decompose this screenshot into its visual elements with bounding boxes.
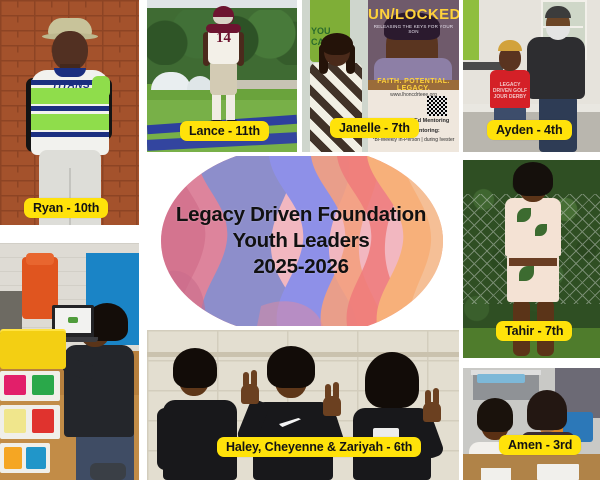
- finger: [325, 384, 331, 400]
- lego-pile: [4, 447, 22, 469]
- worksheet: [481, 468, 511, 480]
- right-leg: [226, 92, 235, 122]
- name-badge-janelle: Janelle - 7th: [330, 118, 419, 138]
- lego-pile: [26, 447, 46, 469]
- photo-scene-trio: [147, 330, 459, 480]
- yellow-lego-bin: [0, 331, 66, 369]
- poster-subtitle: RELEASING THE KEYS FOR YOUR SON: [368, 24, 459, 34]
- left-leg: [212, 92, 221, 122]
- title-line-3: 2025-2026: [253, 254, 348, 280]
- name-badge-ryan: Ryan - 10th: [24, 198, 108, 218]
- lego-pile: [4, 409, 26, 433]
- photo-tile-madison[interactable]: Madison - 5th: [0, 243, 139, 480]
- hair: [545, 6, 571, 18]
- name-badge-trio: Haley, Cheyenne & Zariyah - 6th: [217, 437, 421, 457]
- hair: [321, 33, 353, 55]
- shoe: [90, 463, 126, 480]
- blonde-hair: [498, 40, 522, 51]
- title-line-1: Legacy Driven Foundation: [176, 202, 426, 228]
- jersey-number: 14: [208, 30, 239, 47]
- girl-figure-right: [343, 352, 455, 480]
- hair: [513, 162, 553, 196]
- finger: [333, 382, 339, 400]
- lego-pile: [32, 409, 54, 433]
- photo-scene-madison: [0, 243, 139, 480]
- lego-sorting-tray: [0, 371, 60, 401]
- argyle-sweater: [310, 63, 362, 152]
- braided-hair: [267, 346, 315, 388]
- long-braided-hair: [365, 352, 419, 408]
- jersey-logo-text: TITANS: [45, 80, 97, 91]
- photo-tile-janelle[interactable]: YOU CAN UN/LOCKED RELEASING THE KEYS FOR…: [302, 0, 459, 152]
- top: [505, 198, 561, 256]
- finger: [433, 388, 439, 406]
- waist-band: [509, 258, 557, 266]
- name-badge-tahir: Tahir - 7th: [496, 321, 572, 341]
- lego-sorting-tray: [0, 405, 60, 439]
- photo-scene-ryan: TITANS: [0, 0, 139, 225]
- center-title-panel: Legacy Driven Foundation Youth Leaders 2…: [139, 152, 463, 330]
- stacked-chairs-top: [26, 253, 54, 265]
- title-line-2: Youth Leaders: [233, 228, 370, 254]
- jersey-collar: [54, 68, 86, 77]
- screen-content: [68, 317, 78, 323]
- finger: [425, 390, 431, 406]
- jersey-stripe: [31, 132, 109, 137]
- photo-tile-lance[interactable]: 14 Lance - 11th: [147, 0, 297, 152]
- jersey-stripe: [31, 106, 109, 111]
- sweater: [527, 37, 585, 99]
- photo-tile-trio[interactable]: Haley, Cheyenne & Zariyah - 6th: [147, 330, 459, 480]
- qr-code: [427, 96, 447, 116]
- hair: [173, 348, 217, 388]
- finger: [243, 372, 249, 388]
- shirt-graphic-text: LEGACY DRIVEN GOLF JOUR DERBY: [490, 82, 530, 100]
- lego-sorting-tray: [0, 443, 50, 473]
- poster-tagline: FAITH. POTENTIAL. LEGACY.: [368, 78, 459, 92]
- jersey-sleeve: [92, 76, 110, 98]
- lance-figure: 14: [203, 6, 243, 134]
- photo-tile-ayden[interactable]: LEGACY DRIVEN GOLF JOUR DERBY Ayden - 4t…: [463, 0, 600, 152]
- name-badge-lance: Lance - 11th: [180, 121, 269, 141]
- name-badge-amen: Amen - 3rd: [499, 435, 581, 455]
- name-badge-ayden: Ayden - 4th: [487, 120, 572, 140]
- girl-figure-center: [239, 340, 351, 480]
- photo-scene-amen: [463, 368, 600, 480]
- girl-figure-left: [157, 348, 243, 480]
- worksheet: [537, 464, 579, 480]
- photo-tile-amen[interactable]: Amen - 3rd: [463, 368, 600, 480]
- finger: [251, 370, 257, 388]
- youth-leaders-collage: TITANS Ryan - 10th: [0, 0, 600, 480]
- hair: [527, 390, 567, 430]
- wall-poster: [463, 0, 479, 60]
- poster-title: UN/LOCKED: [368, 6, 459, 23]
- title-text-stack: Legacy Driven Foundation Youth Leaders 2…: [139, 152, 463, 330]
- ryan-figure: TITANS: [26, 18, 114, 225]
- poster-url: www.lhoncdrteee.org: [368, 92, 459, 98]
- jersey-stripe: [31, 114, 109, 130]
- lego-pile: [32, 375, 54, 395]
- supplies: [477, 374, 525, 383]
- arm: [157, 408, 173, 470]
- photo-tile-tahir[interactable]: Tahir - 7th: [463, 160, 600, 358]
- hair: [477, 398, 513, 432]
- football-pants: [210, 61, 237, 95]
- photo-tile-ryan[interactable]: TITANS Ryan - 10th: [0, 0, 139, 225]
- lego-pile: [4, 375, 26, 395]
